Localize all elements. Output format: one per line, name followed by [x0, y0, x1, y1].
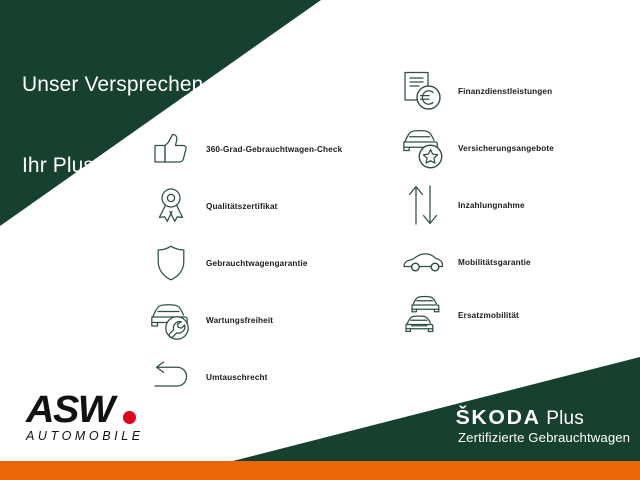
- headline-line-1: Unser Versprechen.: [22, 71, 209, 98]
- feature-item-financial-services: Finanzdienstleistungen: [400, 68, 552, 114]
- feature-item-replacement-mobility: Ersatzmobilität: [400, 292, 519, 338]
- feature-label: Inzahlungnahme: [458, 200, 525, 211]
- orange-bottom-bar: [0, 461, 640, 480]
- two-cars-icon: [400, 292, 446, 338]
- car-wrench-icon: [148, 297, 194, 343]
- car-side-icon: [400, 239, 446, 285]
- skoda-logo-line: ŠKODA Plus: [458, 408, 630, 429]
- up-down-arrows-icon: [400, 182, 446, 228]
- feature-label: Mobilitätsgarantie: [458, 257, 531, 268]
- promo-banner: Unser Versprechen. Ihr Plus. 360-Grad-Ge…: [0, 0, 640, 480]
- document-euro-icon: [400, 68, 446, 114]
- feature-item-quality-certificate: Qualitätszertifikat: [148, 183, 278, 229]
- asw-subtitle: AUTOMOBILE: [26, 429, 176, 443]
- feature-label: Qualitätszertifikat: [206, 201, 278, 212]
- feature-item-mobility-guarantee: Mobilitätsgarantie: [400, 239, 531, 285]
- award-rosette-icon: [148, 183, 194, 229]
- asw-red-dot-icon: [123, 411, 136, 424]
- feature-label: Ersatzmobilität: [458, 310, 519, 321]
- feature-item-trade-in: Inzahlungnahme: [400, 182, 525, 228]
- feature-item-insurance-offers: Versicherungsangebote: [400, 125, 554, 171]
- feature-label: Versicherungsangebote: [458, 143, 554, 154]
- feature-item-maintenance-free: Wartungsfreiheit: [148, 297, 273, 343]
- asw-wordmark-text: ASW: [26, 393, 114, 427]
- feature-item-used-car-warranty: Gebrauchtwagengarantie: [148, 240, 308, 286]
- feature-label: Finanzdienstleistungen: [458, 86, 552, 97]
- skoda-plus-logo: ŠKODA Plus Zertifizierte Gebrauchtwagen: [458, 408, 630, 446]
- feature-label: 360-Grad-Gebrauchtwagen-Check: [206, 144, 342, 155]
- thumbs-up-icon: [148, 126, 194, 172]
- feature-label: Umtauschrecht: [206, 372, 268, 383]
- feature-label: Wartungsfreiheit: [206, 315, 273, 326]
- asw-logo: ASW AUTOMOBILE: [26, 393, 176, 443]
- skoda-plus-word: Plus: [546, 409, 584, 429]
- asw-wordmark: ASW: [26, 393, 176, 427]
- feature-label: Gebrauchtwagengarantie: [206, 258, 308, 269]
- skoda-wordmark: ŠKODA: [456, 408, 541, 428]
- shield-icon: [148, 240, 194, 286]
- skoda-subtitle: Zertifizierte Gebrauchtwagen: [458, 430, 630, 446]
- feature-item-360-check: 360-Grad-Gebrauchtwagen-Check: [148, 126, 342, 172]
- car-star-icon: [400, 125, 446, 171]
